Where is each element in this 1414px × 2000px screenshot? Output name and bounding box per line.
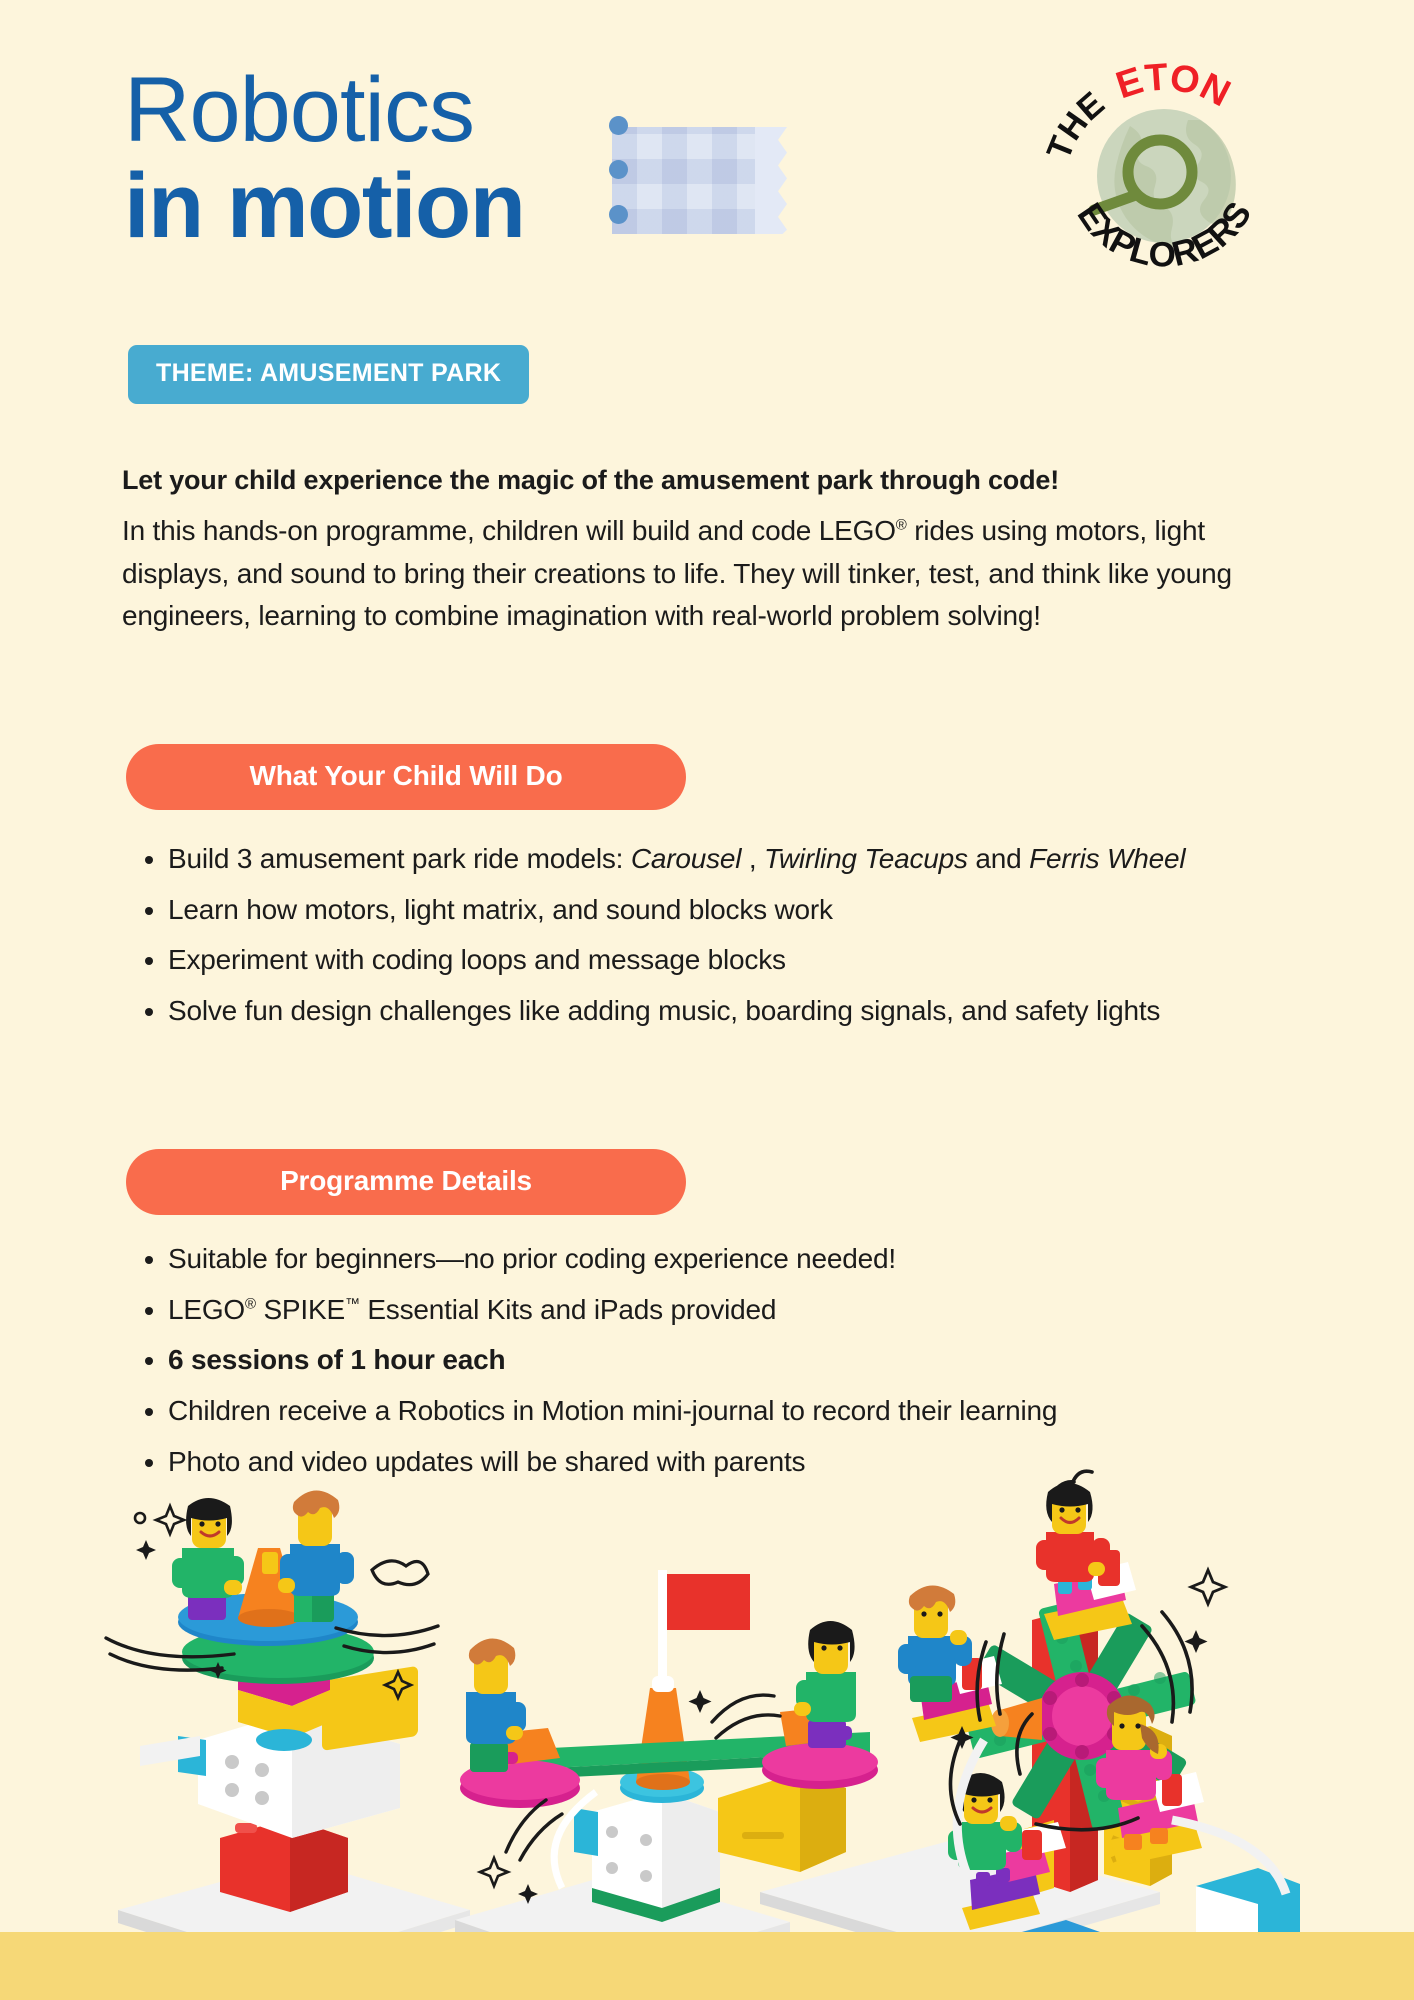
ticket-torn-edge-icon xyxy=(755,127,787,234)
intro-body: In this hands-on programme, children wil… xyxy=(122,510,1252,638)
carousel-model xyxy=(106,1490,438,1912)
lego-models-illustration xyxy=(0,1440,1414,2000)
list-item: Suitable for beginners—no prior coding e… xyxy=(168,1240,1290,1279)
gondola xyxy=(898,1585,1002,1742)
title-line-1: Robotics xyxy=(124,66,524,154)
ticket-decoration-icon xyxy=(612,127,760,234)
svg-text:THE: THE xyxy=(1040,85,1112,165)
list-item: Children receive a Robotics in Motion mi… xyxy=(168,1392,1290,1431)
intro-section: Let your child experience the magic of t… xyxy=(122,465,1252,638)
registered-mark: ® xyxy=(896,517,907,534)
list-item: Solve fun design challenges like adding … xyxy=(168,992,1290,1031)
poster-page: Robotics in motion xyxy=(0,0,1414,2000)
bottom-color-band xyxy=(0,1932,1414,2000)
section-heading-what-your-child-will-do: What Your Child Will Do xyxy=(126,744,686,810)
ticket-dot-icon xyxy=(609,116,628,135)
ticket-dot-icon xyxy=(609,205,628,224)
list-item: Learn how motors, light matrix, and soun… xyxy=(168,891,1290,930)
theme-badge: THEME: AMUSEMENT PARK xyxy=(128,345,529,404)
ticket-dot-icon xyxy=(609,160,628,179)
list-item: Build 3 amusement park ride models: Caro… xyxy=(168,840,1290,879)
svg-text:ETON: ETON xyxy=(1111,57,1237,116)
eton-explorers-logo: THE ETON EXPLORERS xyxy=(1038,48,1290,300)
title-line-2: in motion xyxy=(124,160,524,252)
intro-lead: Let your child experience the magic of t… xyxy=(122,465,1252,496)
what-your-child-will-do-list: Build 3 amusement park ride models: Caro… xyxy=(130,840,1290,1043)
twirling-teacups-model xyxy=(460,1570,878,1922)
gondola xyxy=(1036,1483,1136,1640)
gondola xyxy=(1096,1695,1204,1866)
poster-header: Robotics in motion xyxy=(0,0,1414,340)
page-title: Robotics in motion xyxy=(124,66,524,252)
list-item: Experiment with coding loops and message… xyxy=(168,941,1290,980)
list-item: LEGO® SPIKE™ Essential Kits and iPads pr… xyxy=(168,1291,1290,1330)
intro-body-part1: In this hands-on programme, children wil… xyxy=(122,515,896,546)
list-item: 6 sessions of 1 hour each xyxy=(168,1341,1290,1380)
section-heading-programme-details: Programme Details xyxy=(126,1149,686,1215)
